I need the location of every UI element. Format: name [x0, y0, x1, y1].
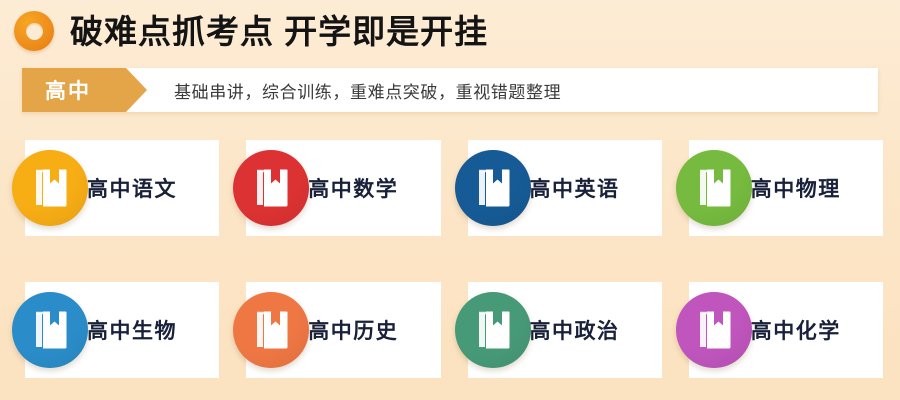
book-icon	[676, 150, 752, 226]
subject-label: 高中历史	[308, 315, 398, 345]
subtitle-body: 基础串讲，综合训练，重难点突破，重视错题整理	[126, 68, 878, 112]
subject-card[interactable]: 高中英语	[468, 140, 662, 236]
subject-card[interactable]: 高中历史	[246, 282, 440, 378]
subject-card[interactable]: 高中化学	[689, 282, 883, 378]
subject-label: 高中化学	[751, 315, 841, 345]
subject-card[interactable]: 高中生物	[25, 282, 219, 378]
subject-label: 高中物理	[751, 173, 841, 203]
subject-label: 高中政治	[530, 315, 620, 345]
level-tag-label: 高中	[45, 75, 91, 105]
banner-header: 破难点抓考点 开学即是开挂	[0, 0, 900, 62]
subject-card[interactable]: 高中数学	[246, 140, 440, 236]
book-icon	[233, 292, 309, 368]
book-icon	[455, 150, 531, 226]
subject-label: 高中生物	[87, 315, 177, 345]
promo-banner: 破难点抓考点 开学即是开挂 高中 基础串讲，综合训练，重难点突破，重视错题整理 …	[0, 0, 900, 400]
ring-circle-icon	[14, 11, 54, 51]
book-icon	[233, 150, 309, 226]
subject-label: 高中英语	[530, 173, 620, 203]
book-icon	[455, 292, 531, 368]
subject-label: 高中数学	[308, 173, 398, 203]
subject-card-grid: 高中语文高中数学高中英语高中物理高中生物高中历史高中政治高中化学	[0, 140, 900, 378]
page-title: 破难点抓考点 开学即是开挂	[70, 15, 488, 48]
subject-card[interactable]: 高中政治	[468, 282, 662, 378]
book-icon	[12, 150, 88, 226]
subject-card[interactable]: 高中语文	[25, 140, 219, 236]
subtitle-strip: 高中 基础串讲，综合训练，重难点突破，重视错题整理	[22, 68, 878, 112]
subject-card[interactable]: 高中物理	[689, 140, 883, 236]
book-icon	[12, 292, 88, 368]
book-icon	[676, 292, 752, 368]
subtitle-text: 基础串讲，综合训练，重难点突破，重视错题整理	[174, 78, 561, 103]
subject-label: 高中语文	[87, 173, 177, 203]
level-tag: 高中	[22, 68, 126, 112]
